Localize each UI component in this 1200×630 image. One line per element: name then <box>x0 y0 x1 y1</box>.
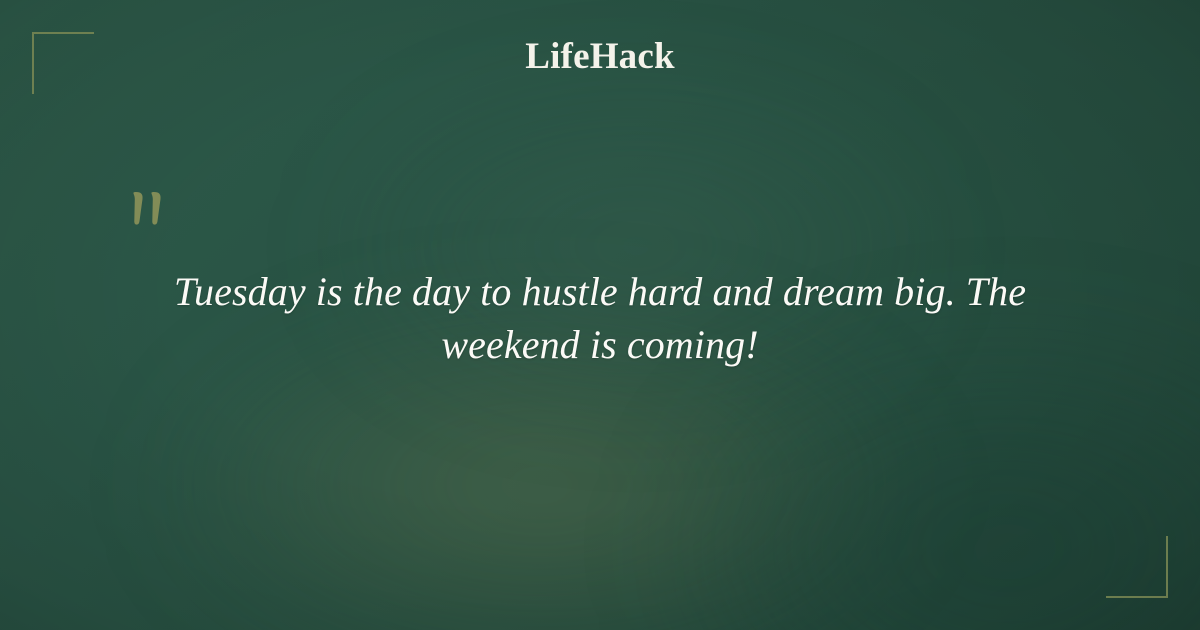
quote-card: LifeHack Tuesday is the day to hustle ha… <box>0 0 1200 630</box>
quotation-mark-icon <box>130 190 176 238</box>
quote-text: Tuesday is the day to hustle hard and dr… <box>150 266 1050 372</box>
corner-bracket-bottom-right-icon <box>1106 536 1168 598</box>
brand-logo: LifeHack <box>0 38 1200 75</box>
